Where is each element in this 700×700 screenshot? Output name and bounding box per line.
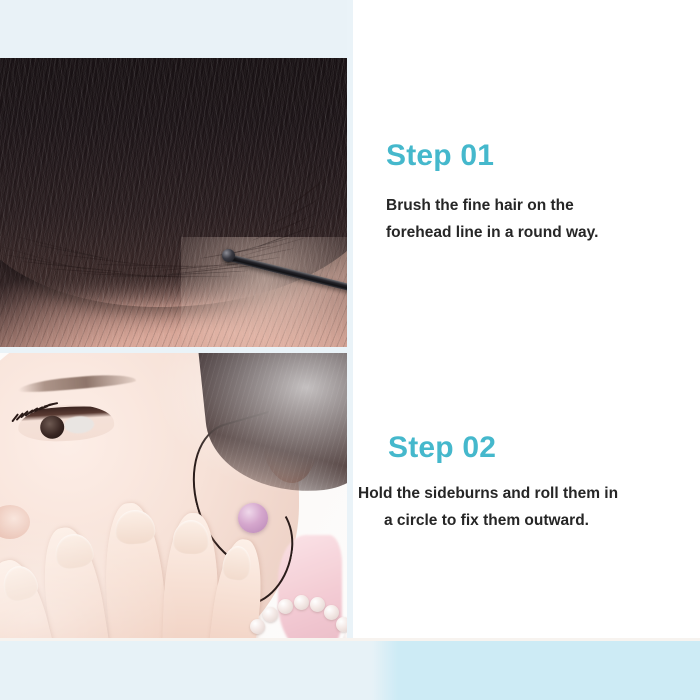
step-01-description-line-2: forehead line in a round way. [386,219,700,247]
photo2-hand [0,503,268,641]
step-02-text-block: Step 02 Hold the sideburns and roll them… [358,432,700,535]
step-01-title: Step 01 [386,140,700,172]
photo2-sclera [64,416,95,435]
sideburn-roll-photo [0,353,348,641]
step-01-description: Brush the fine hair on the forehead line… [386,192,700,247]
step-01-description-line-1: Brush the fine hair on the [386,192,700,220]
photo2-pearl-bracelet [248,589,348,641]
bottom-background-band-right [372,641,700,700]
bottom-background-band-left [0,641,380,700]
photo1-wand-tip [222,249,235,262]
step-02-description-line-1: Hold the sideburns and roll them in [358,480,700,508]
photo2-ring [238,503,268,533]
text-panel [353,0,700,700]
photo2-iris [40,415,65,439]
infographic-page: Step 01 Brush the fine hair on the foreh… [0,0,700,700]
step-02-title: Step 02 [388,432,700,464]
photo2-eyelashes [8,399,54,415]
step-02-description: Hold the sideburns and roll them in a ci… [358,480,700,535]
step-01-text-block: Step 01 Brush the fine hair on the foreh… [386,140,700,247]
step-02-description-line-2: a circle to fix them outward. [384,507,700,535]
hairline-brush-photo [0,58,348,347]
